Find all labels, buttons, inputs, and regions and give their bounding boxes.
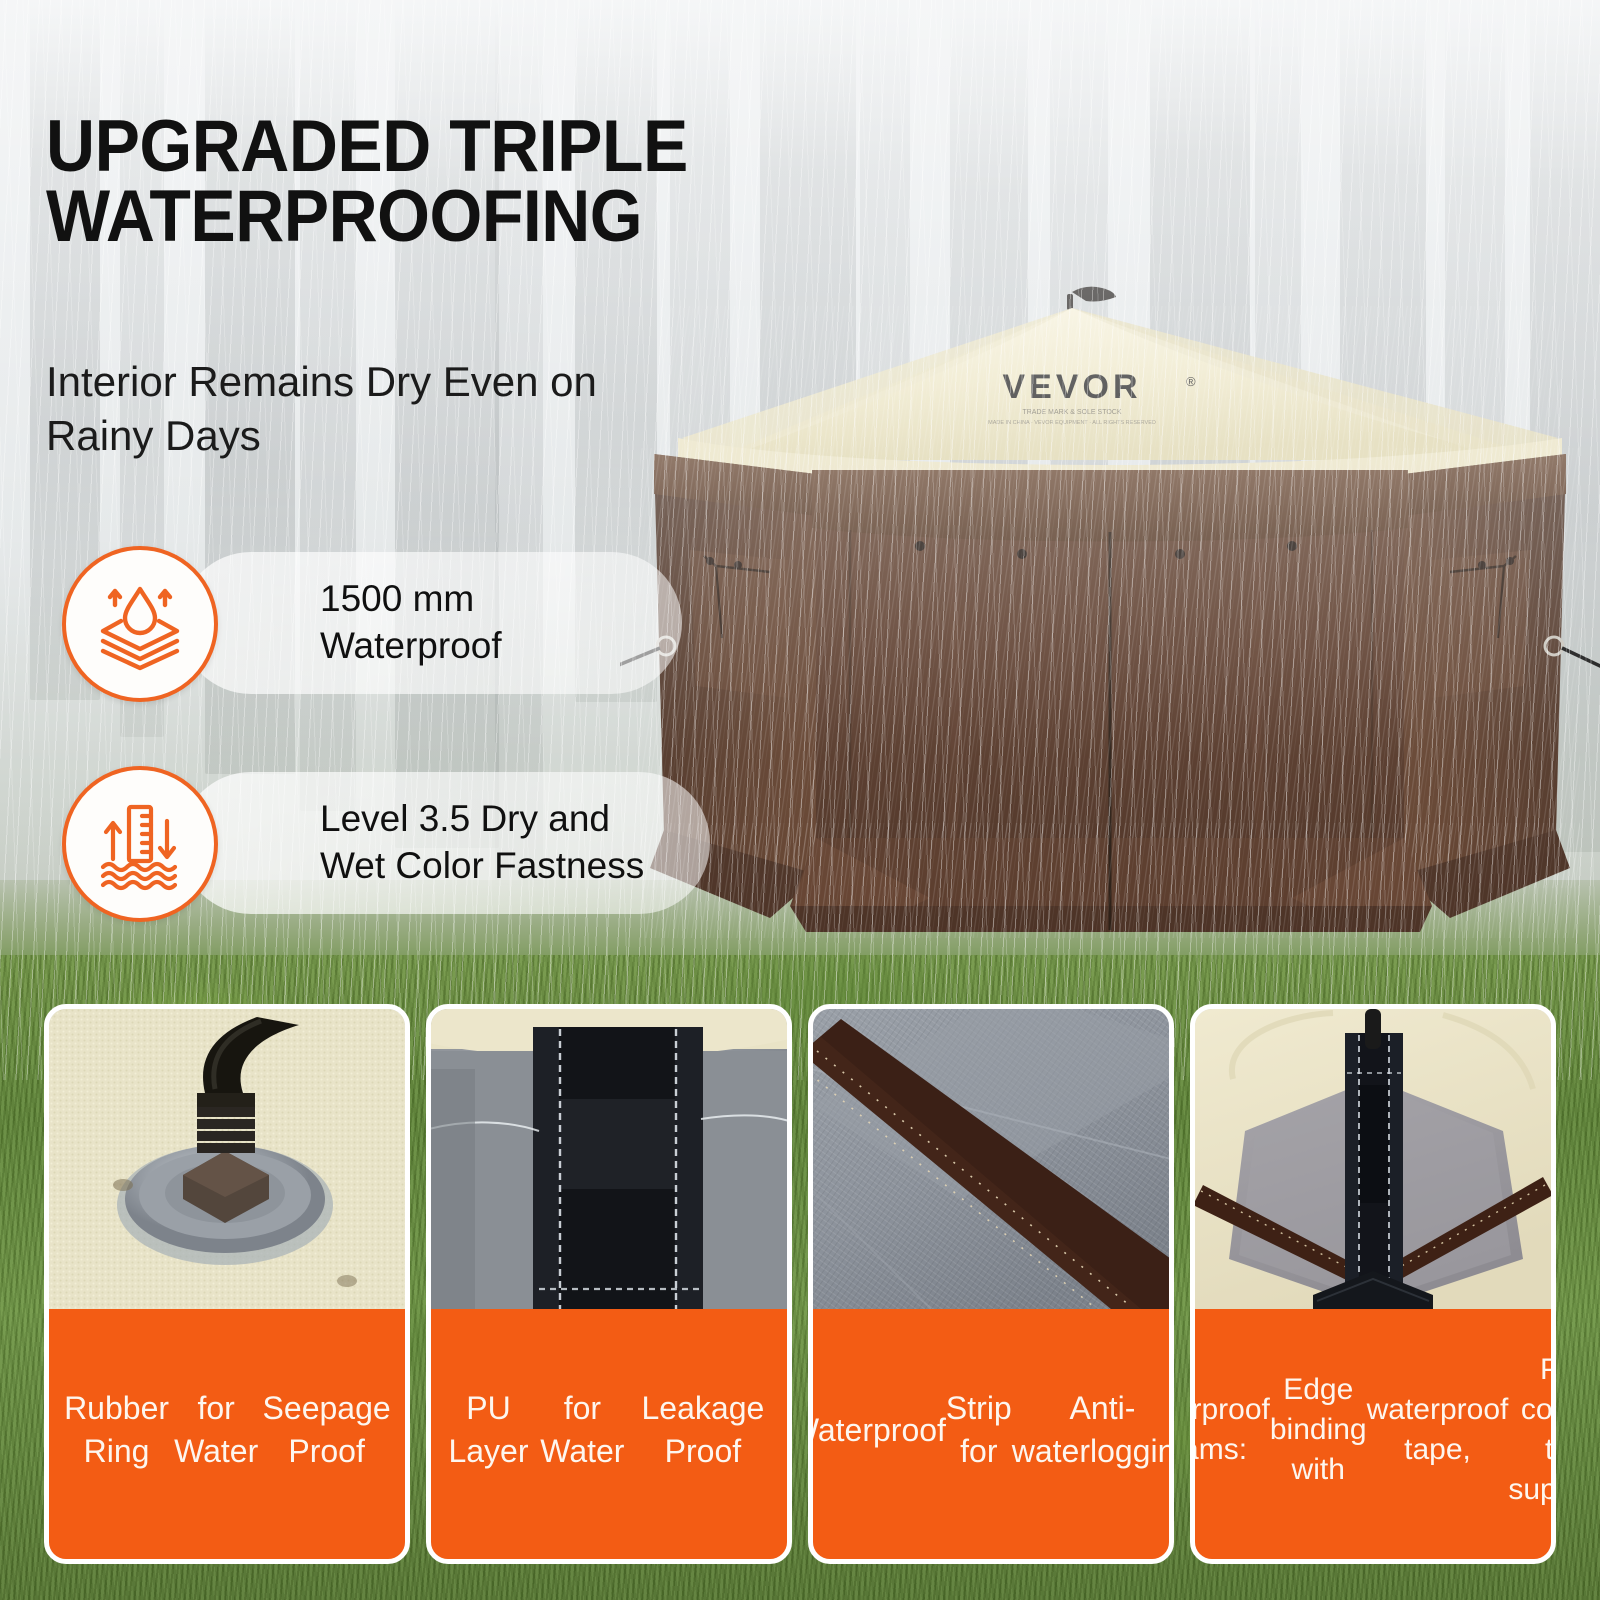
detail-card-pu-layer[interactable]: PU Layerfor WaterLeakage Proof: [426, 1004, 792, 1564]
badge-line-2: Wet Color Fastness: [320, 843, 644, 890]
pu-layer-strap-photo: [431, 1009, 787, 1309]
caption-line: waterproof tape,: [1367, 1390, 1509, 1470]
badge-icon-circle: [62, 766, 218, 922]
caption-line: Edge binding with: [1270, 1370, 1367, 1491]
marketing-image-canvas: VEVOR ® TRADE MARK & SOLE STOCK MADE IN …: [0, 0, 1600, 1600]
svg-text:VEVOR: VEVOR: [1002, 368, 1141, 406]
badge-icon-circle: [62, 546, 218, 702]
detail-card-waterproof-seams[interactable]: Waterproof Seams:Edge binding withwaterp…: [1190, 1004, 1556, 1564]
caption-line: Waterproof: [808, 1409, 946, 1452]
card-caption: PU Layerfor WaterLeakage Proof: [431, 1309, 787, 1559]
caption-line: Seepage Proof: [258, 1387, 395, 1473]
tent-base-skirt: [640, 823, 1580, 938]
caption-line: Strip for: [946, 1387, 1012, 1473]
caption-line: Leakage Proof: [629, 1387, 777, 1473]
gazebo-tent-product: VEVOR ® TRADE MARK & SOLE STOCK MADE IN …: [620, 278, 1600, 938]
svg-text:®: ®: [1186, 374, 1196, 389]
color-fastness-gauge-icon: [91, 795, 189, 893]
card-caption: WaterproofStrip forAnti-waterlogging: [813, 1309, 1169, 1559]
water-droplet-layers-icon: [91, 575, 189, 673]
waterproof-strip-photo: [813, 1009, 1169, 1309]
page-subtitle: Interior Remains Dry Even on Rainy Days: [46, 355, 686, 463]
detail-card-waterproof-strip[interactable]: WaterproofStrip forAnti-waterlogging: [808, 1004, 1174, 1564]
badge-line-1: Level 3.5 Dry and: [320, 796, 644, 843]
caption-line: Rubber Ring: [59, 1387, 174, 1473]
card-caption: Waterproof Seams:Edge binding withwaterp…: [1195, 1309, 1551, 1559]
badge-label: 1500 mm Waterproof: [320, 576, 502, 669]
badge-pill-background: 1500 mm Waterproof: [180, 552, 682, 694]
caption-line: for Water: [174, 1387, 258, 1473]
caption-line: for Water: [536, 1387, 629, 1473]
caption-line: Anti-waterlogging: [1012, 1387, 1174, 1473]
tent-right-panel: [1390, 448, 1580, 888]
caption-line: PU Layer: [441, 1387, 536, 1473]
card-caption: Rubber Ringfor WaterSeepage Proof: [49, 1309, 405, 1559]
rubber-ring-bolt-photo: [49, 1009, 405, 1309]
svg-text:MADE IN CHINA · VEVOR EQUIPM: MADE IN CHINA · VEVOR EQUIPMENT · ALL RI…: [988, 420, 1156, 426]
caption-line: PU-coated top supports: [1508, 1350, 1556, 1511]
detail-cards-row: Rubber Ringfor WaterSeepage Proof: [44, 1004, 1556, 1564]
waterproof-seams-corner-photo: [1195, 1009, 1551, 1309]
page-title: UPGRADED TRIPLE WATERPROOFING: [46, 112, 809, 252]
caption-line: Waterproof Seams:: [1190, 1390, 1270, 1470]
badge-label: Level 3.5 Dry and Wet Color Fastness: [320, 796, 644, 889]
badge-pill-background: Level 3.5 Dry and Wet Color Fastness: [180, 772, 710, 914]
badge-line-1: 1500 mm: [320, 576, 502, 623]
feature-badge-color-fastness: Level 3.5 Dry and Wet Color Fastness: [62, 748, 682, 944]
svg-text:TRADE MARK & SOLE STOCK: TRADE MARK & SOLE STOCK: [1022, 409, 1121, 416]
feature-badge-waterproof: 1500 mm Waterproof: [62, 528, 682, 718]
detail-card-rubber-ring[interactable]: Rubber Ringfor WaterSeepage Proof: [44, 1004, 410, 1564]
badge-line-2: Waterproof: [320, 623, 502, 670]
